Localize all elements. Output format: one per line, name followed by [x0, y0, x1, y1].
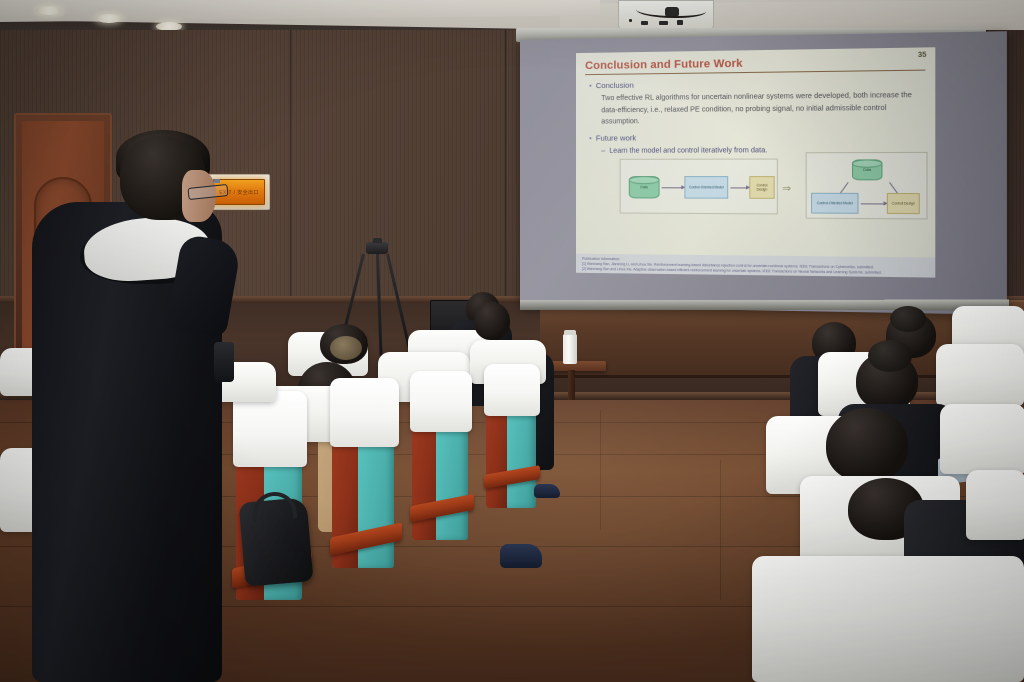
slide-number: 35 [918, 52, 927, 60]
diagram-iterative: Data Control-Oriented Model Control Desi… [806, 152, 928, 220]
diagram-arrow-1 [662, 187, 683, 188]
node-label: Control-Oriented Model [689, 185, 724, 189]
seat-headrest-cover [410, 371, 473, 432]
audience-hair-bun [890, 306, 926, 332]
bullet-dot-icon: • [589, 81, 592, 90]
audience-hair-bun [868, 340, 912, 372]
node-label: Data [640, 185, 647, 189]
ceiling-light-1 [36, 6, 62, 15]
side-table [548, 361, 606, 371]
water-bottle [563, 334, 577, 364]
dash-icon: – [601, 147, 605, 154]
seat-cover [936, 344, 1024, 406]
audience-hair-bun [330, 336, 362, 360]
water-bottle-cap [564, 330, 576, 335]
diagram-node-data: Data [852, 159, 882, 180]
audience-head [826, 408, 908, 482]
projection-screen-weight-bar [520, 300, 1009, 311]
bullet-dot-icon: • [589, 133, 592, 142]
node-label: Control-Oriented Model [817, 201, 853, 205]
shoe [534, 484, 560, 498]
seat-headrest-cover [484, 364, 540, 416]
diagram-node-design: Control Design [887, 193, 920, 214]
seat-cover [752, 556, 1024, 682]
projection-screen: 35 Conclusion and Future Work • Conclusi… [520, 31, 1007, 315]
projector-vent [629, 19, 632, 22]
seat-headrest-cover [330, 378, 399, 447]
ceiling-light-2 [96, 14, 122, 23]
auditorium-seat[interactable] [486, 384, 536, 508]
presentation-slide: 35 Conclusion and Future Work • Conclusi… [576, 47, 935, 277]
diagram-arrow-2 [730, 187, 747, 188]
shoe [500, 544, 542, 568]
bullet-label: Conclusion [596, 81, 634, 91]
presenter [24, 130, 224, 682]
diagram-arrow-across [861, 203, 885, 204]
slide-diagram-area: Data Control-Oriented Model Control Desi… [585, 158, 925, 219]
diagram-transition-arrow-icon: ⇒ [782, 183, 791, 194]
audience-head [474, 302, 510, 340]
presenter-handheld-device[interactable] [214, 342, 234, 382]
tripod-camera [366, 242, 388, 254]
diagram-sequential: Data Control-Oriented Model Control Desi… [620, 158, 778, 214]
projector-port-3 [677, 20, 683, 25]
ceiling-lip [0, 0, 600, 22]
node-label: Control Design [892, 201, 915, 205]
node-label: Data [863, 167, 871, 171]
diagram-node-model: Control-Oriented Model [811, 192, 859, 213]
seat-headrest-cover [233, 391, 307, 467]
diagram-node-model: Control-Oriented Model [684, 176, 728, 199]
projector-port-2 [659, 21, 668, 25]
diagram-node-design: Control Design [749, 176, 774, 199]
seat-cover [966, 470, 1024, 540]
slide-bullet-conclusion: • Conclusion [589, 77, 925, 90]
bullet-label: Future work [596, 133, 636, 142]
sub-label: Learn the model and control iteratively … [609, 147, 767, 155]
slide-bullet-future-work: • Future work [589, 131, 925, 142]
slide-conclusion-body: Two effective RL algorithms for uncertai… [601, 90, 925, 129]
seat-cover [940, 404, 1024, 474]
lecture-hall-scene: EXIT / 安全出口 35 Conclusion and Future Wor… [0, 0, 1024, 682]
node-label: Control Design [751, 183, 772, 191]
slide-publication-block: Publication Information: [1] Wanxiang Ra… [576, 253, 935, 277]
projector-port-1 [641, 21, 648, 25]
diagram-node-data: Data [629, 176, 660, 198]
